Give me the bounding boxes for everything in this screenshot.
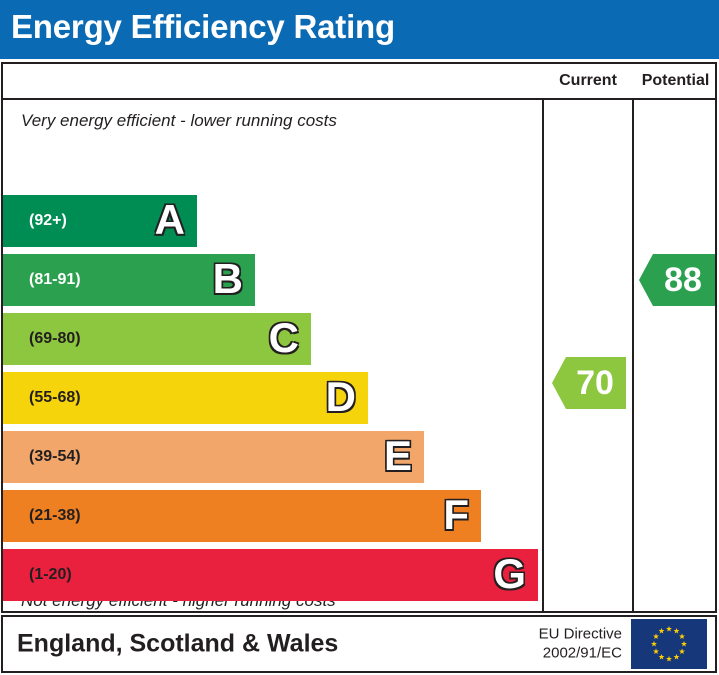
table-header-row: Current Potential	[3, 64, 715, 100]
directive-line-2: 2002/91/EC	[539, 644, 622, 663]
rating-band-b: (81-91)B	[3, 254, 255, 306]
page-title: Energy Efficiency Rating	[11, 8, 395, 46]
band-letter-a: A	[155, 199, 185, 241]
column-divider-potential	[632, 100, 634, 613]
band-letter-f: F	[443, 494, 469, 536]
directive-line-1: EU Directive	[539, 625, 622, 644]
column-header-current: Current	[544, 64, 632, 98]
caption-efficient: Very energy efficient - lower running co…	[21, 111, 337, 131]
rating-table: Current Potential Very energy efficient …	[1, 62, 717, 613]
footer-region-label: England, Scotland & Wales	[17, 630, 338, 659]
band-letter-b: B	[213, 258, 243, 300]
rating-band-e: (39-54)E	[3, 431, 424, 483]
column-header-potential: Potential	[634, 64, 717, 98]
band-range-label: (39-54)	[29, 448, 81, 466]
column-divider-current	[542, 100, 544, 613]
band-letter-g: G	[493, 553, 526, 595]
band-range-label: (55-68)	[29, 389, 81, 407]
band-letter-e: E	[384, 435, 412, 477]
rating-value-potential: 88	[639, 254, 715, 306]
certificate-footer: England, Scotland & Wales EU Directive 2…	[1, 615, 717, 673]
eu-flag-icon	[631, 619, 707, 669]
band-letter-d: D	[326, 376, 356, 418]
band-range-label: (81-91)	[29, 271, 81, 289]
rating-band-d: (55-68)D	[3, 372, 368, 424]
chart-title-bar: Energy Efficiency Rating	[0, 0, 719, 59]
energy-efficiency-rating-certificate: Energy Efficiency Rating Current Potenti…	[0, 0, 719, 675]
rating-value-current: 70	[552, 357, 626, 409]
rating-band-f: (21-38)F	[3, 490, 481, 542]
footer-directive-label: EU Directive 2002/91/EC	[539, 625, 622, 663]
band-range-label: (92+)	[29, 212, 67, 230]
rating-band-g: (1-20)G	[3, 549, 538, 601]
rating-band-a: (92+)A	[3, 195, 197, 247]
rating-band-c: (69-80)C	[3, 313, 311, 365]
band-range-label: (21-38)	[29, 507, 81, 525]
band-range-label: (1-20)	[29, 566, 72, 584]
band-letter-c: C	[269, 317, 299, 359]
band-range-label: (69-80)	[29, 330, 81, 348]
